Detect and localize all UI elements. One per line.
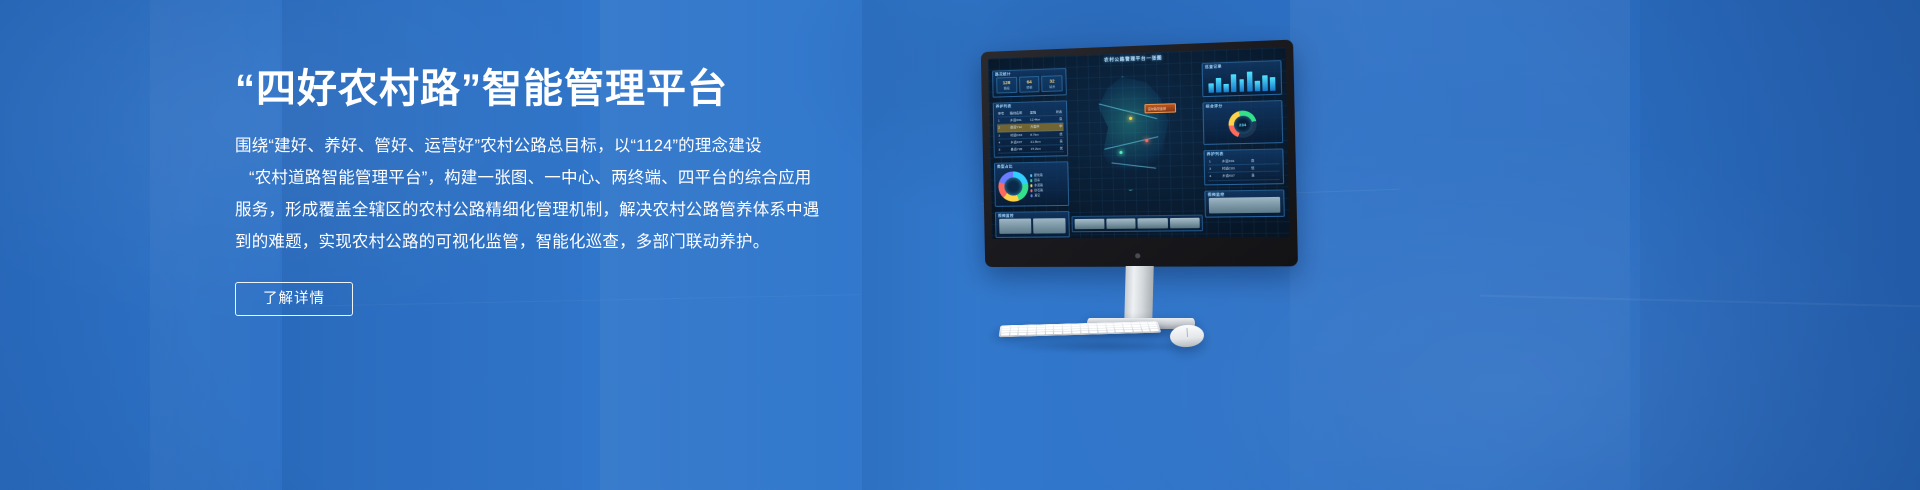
hero-description: 围绕“建好、养好、管好、运营好”农村公路总目标，以“1124”的理念建设 “农村… [235, 130, 875, 258]
cell: 8.7km [1030, 132, 1048, 136]
map-callout: 实时路况监测 [1144, 104, 1176, 114]
ticker-thumbnail [1137, 218, 1167, 229]
column-header: 序号 [998, 111, 1008, 115]
cell: 方案中 [1030, 125, 1048, 130]
avatar [1209, 196, 1281, 213]
maintenance-table: 序号 路线名称 里程 状态 1 乡道X01 12.4km 良 [997, 109, 1064, 154]
region-shape [1087, 74, 1184, 191]
cell: 乡道X07 [1222, 174, 1249, 179]
hero-banner: “四好农村路”智能管理平台 围绕“建好、养好、管好、运营好”农村公路总目标，以“… [0, 0, 1920, 490]
panel-video-monitor: 视频监控 [995, 211, 1070, 238]
ticker-thumbnail [1106, 218, 1136, 229]
cell: 3 [998, 133, 1008, 137]
ticker-thumbnail [1075, 219, 1104, 229]
panel-profile: 视频监控 [1204, 189, 1285, 217]
ticker-thumbnail [1169, 218, 1199, 229]
kpi-card: 64 桥梁 [1019, 76, 1040, 93]
table-row: 4 乡道X07 良 [1208, 172, 1279, 181]
chart-legend: 硬化路 沥青 水泥路 砂石路 其它 [1028, 173, 1065, 199]
cell: 1 [1209, 159, 1220, 163]
kpi-label: 路段 [997, 86, 1016, 91]
cell: 优 [1051, 146, 1063, 150]
learn-more-button[interactable]: 了解详情 [235, 282, 353, 316]
cell: 良 [1050, 117, 1062, 121]
cell: 优 [1050, 132, 1062, 136]
monitor-chin [985, 245, 1298, 265]
cell: 优 [1251, 166, 1278, 171]
panel-maintenance-list: 养护列表 序号 路线名称 里程 状态 1 乡道X01 12. [993, 100, 1068, 158]
dashboard-left-column: 路况统计 128 路段 64 桥梁 32 [992, 68, 1070, 239]
cell: 4 [998, 140, 1008, 144]
table-row: 5 县道Y05 15.2km 优 [998, 145, 1064, 154]
kpi-card: 32 站点 [1041, 75, 1062, 92]
kpi-label: 桥梁 [1020, 85, 1039, 90]
dashboard-right-column: 巡查记录 综合评分 234 养护列表 [1202, 60, 1285, 222]
cell: 1 [998, 119, 1008, 123]
panel-type-ratio: 类型占比 硬化路 沥青 水泥路 砂石路 其它 [994, 161, 1069, 207]
kpi-row: 128 路段 64 桥梁 32 站点 [996, 75, 1063, 93]
cell: 21.5km [1030, 139, 1048, 143]
map-view: 实时路况监测 [1068, 65, 1202, 212]
cell: 乡道X01 [1010, 118, 1028, 123]
cell: 15.2km [1031, 147, 1049, 151]
map-pin-icon [1129, 116, 1132, 119]
panel-road-stats: 路况统计 128 路段 64 桥梁 32 [992, 68, 1067, 98]
gauge-value: 234 [1228, 110, 1257, 138]
video-thumbnail [1033, 218, 1066, 233]
column-header: 状态 [1050, 110, 1062, 114]
legend-label: 其它 [1034, 193, 1040, 198]
monitor-stand-neck [1124, 266, 1153, 322]
kpi-label: 站点 [1043, 84, 1062, 89]
cell: 县道Y12 [1010, 125, 1028, 130]
video-thumbnail [999, 219, 1031, 234]
donut-chart-wrap: 硬化路 沥青 水泥路 砂石路 其它 [998, 169, 1065, 203]
column-header: 里程 [1030, 110, 1048, 115]
panel-heading: 视频监控 [1208, 192, 1225, 197]
bar-chart [1206, 68, 1278, 93]
panel-score-gauge: 综合评分 234 [1202, 100, 1283, 145]
desktop-computer-mockup: 农村公路管理平台一张图 路况统计 128 路段 64 桥梁 [975, 52, 1295, 352]
legend-item: 其它 [1031, 193, 1065, 199]
cell: 村道C03 [1010, 132, 1028, 136]
panel-heading: 养护列表 [1207, 152, 1224, 158]
cell: 3 [1209, 167, 1220, 171]
kpi-card: 128 路段 [996, 77, 1017, 94]
column-header: 路线名称 [1010, 111, 1028, 116]
panel-heading: 路况统计 [995, 72, 1011, 78]
gauge-chart: 234 [1228, 110, 1257, 138]
panel-heading: 视频监控 [998, 214, 1014, 219]
hero-copy: “四好农村路”智能管理平台 围绕“建好、养好、管好、运营好”农村公路总目标，以“… [235, 62, 875, 316]
panel-trend-bars: 巡查记录 [1202, 60, 1283, 97]
profile-photo [1209, 196, 1281, 213]
donut-chart [998, 171, 1029, 202]
panel-heading: 类型占比 [997, 165, 1013, 170]
cell: 2 [998, 126, 1008, 130]
cell: 4 [1209, 174, 1220, 178]
cell: 良 [1251, 158, 1278, 163]
cell: 乡道X01 [1222, 159, 1249, 164]
panel-heading: 巡查记录 [1205, 64, 1222, 70]
cell: 中 [1050, 124, 1062, 128]
cell: 良 [1251, 173, 1278, 178]
cell: 村道C03 [1222, 166, 1249, 171]
description-line-3: 服务，形成覆盖全辖区的农村公路精细化管理机制，解决农村公路管养体系中遇 [235, 194, 875, 226]
cell: 乡道X07 [1010, 140, 1028, 144]
description-line-1: 围绕“建好、养好、管好、运营好”农村公路总目标，以“1124”的理念建设 [235, 130, 875, 162]
cell: 良 [1051, 139, 1063, 143]
inspector-table: 1 乡道X01 良 3 村道C03 优 4 乡道X07 [1208, 157, 1280, 181]
page-title: “四好农村路”智能管理平台 [235, 62, 875, 116]
panel-heading: 综合评分 [1206, 104, 1223, 110]
video-thumbnails [999, 218, 1066, 234]
cell: 5 [999, 147, 1009, 151]
photo-ticker [1071, 215, 1203, 233]
cell: 县道Y05 [1011, 147, 1029, 151]
cell: 12.4km [1030, 117, 1048, 122]
panel-heading: 养护列表 [996, 104, 1012, 109]
description-line-2: “农村道路智能管理平台”，构建一张图、一中心、两终端、四平台的综合应用 [235, 162, 875, 194]
monitor: 农村公路管理平台一张图 路况统计 128 路段 64 桥梁 [981, 40, 1298, 267]
description-line-4: 到的难题，实现农村公路的可视化监管，智能化巡查，多部门联动养护。 [235, 226, 875, 258]
brand-logo-icon [1135, 253, 1140, 258]
panel-inspector-list: 养护列表 1 乡道X01 良 3 村道C03 优 [1203, 148, 1284, 185]
monitor-screen: 农村公路管理平台一张图 路况统计 128 路段 64 桥梁 [988, 47, 1290, 239]
